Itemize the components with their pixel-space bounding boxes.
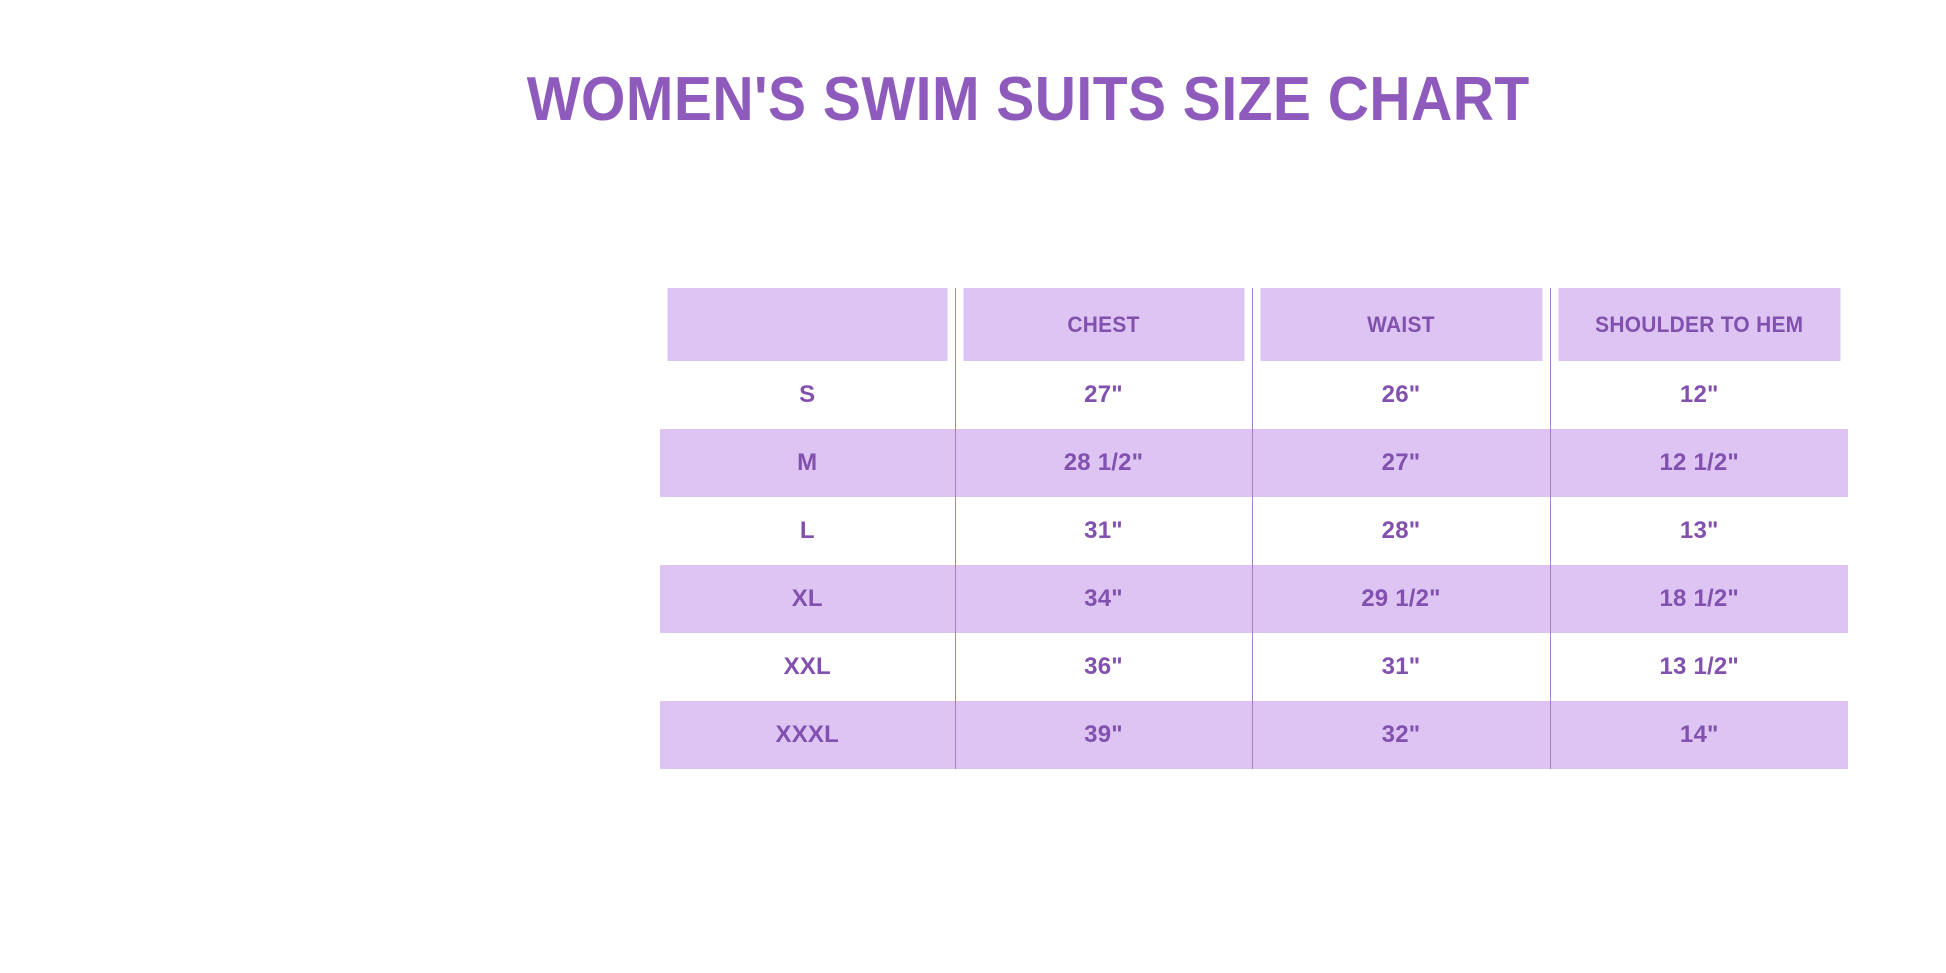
table-header: CHEST WAIST SHOULDER TO HEM <box>660 288 1848 361</box>
header-cell-waist: WAIST <box>1259 288 1542 361</box>
cell-shoulder-to-hem: 13 1/2" <box>1550 633 1848 701</box>
cell-chest: 31" <box>955 497 1252 565</box>
size-chart-table: CHEST WAIST SHOULDER TO HEM S 27" 26" 12… <box>660 288 1848 769</box>
page-title: WOMEN'S SWIM SUITS SIZE CHART <box>78 64 1868 135</box>
cell-shoulder-to-hem: 14" <box>1550 701 1848 769</box>
header-cell-shoulder-to-hem: SHOULDER TO HEM <box>1557 288 1840 361</box>
cell-size: M <box>660 429 955 497</box>
cell-size: XXXL <box>660 701 955 769</box>
cell-chest: 36" <box>955 633 1252 701</box>
cell-size: XXL <box>660 633 955 701</box>
table-row: S 27" 26" 12" <box>660 361 1848 429</box>
cell-waist: 28" <box>1252 497 1550 565</box>
table-row: XXXL 39" 32" 14" <box>660 701 1848 769</box>
cell-shoulder-to-hem: 13" <box>1550 497 1848 565</box>
cell-chest: 27" <box>955 361 1252 429</box>
cell-waist: 29 1/2" <box>1252 565 1550 633</box>
cell-shoulder-to-hem: 18 1/2" <box>1550 565 1848 633</box>
cell-size: XL <box>660 565 955 633</box>
cell-chest: 28 1/2" <box>955 429 1252 497</box>
cell-waist: 27" <box>1252 429 1550 497</box>
cell-size: L <box>660 497 955 565</box>
size-chart-page: WOMEN'S SWIM SUITS SIZE CHART CHEST WAIS… <box>0 0 1946 973</box>
cell-chest: 39" <box>955 701 1252 769</box>
cell-waist: 26" <box>1252 361 1550 429</box>
table-header-row: CHEST WAIST SHOULDER TO HEM <box>660 288 1848 361</box>
table-row: L 31" 28" 13" <box>660 497 1848 565</box>
cell-waist: 31" <box>1252 633 1550 701</box>
cell-chest: 34" <box>955 565 1252 633</box>
table-row: M 28 1/2" 27" 12 1/2" <box>660 429 1848 497</box>
table-row: XL 34" 29 1/2" 18 1/2" <box>660 565 1848 633</box>
cell-shoulder-to-hem: 12 1/2" <box>1550 429 1848 497</box>
table-row: XXL 36" 31" 13 1/2" <box>660 633 1848 701</box>
cell-size: S <box>660 361 955 429</box>
table-body: S 27" 26" 12" M 28 1/2" 27" 12 1/2" L 31… <box>660 361 1848 769</box>
header-cell-size <box>667 288 947 361</box>
header-cell-chest: CHEST <box>962 288 1244 361</box>
cell-shoulder-to-hem: 12" <box>1550 361 1848 429</box>
cell-waist: 32" <box>1252 701 1550 769</box>
